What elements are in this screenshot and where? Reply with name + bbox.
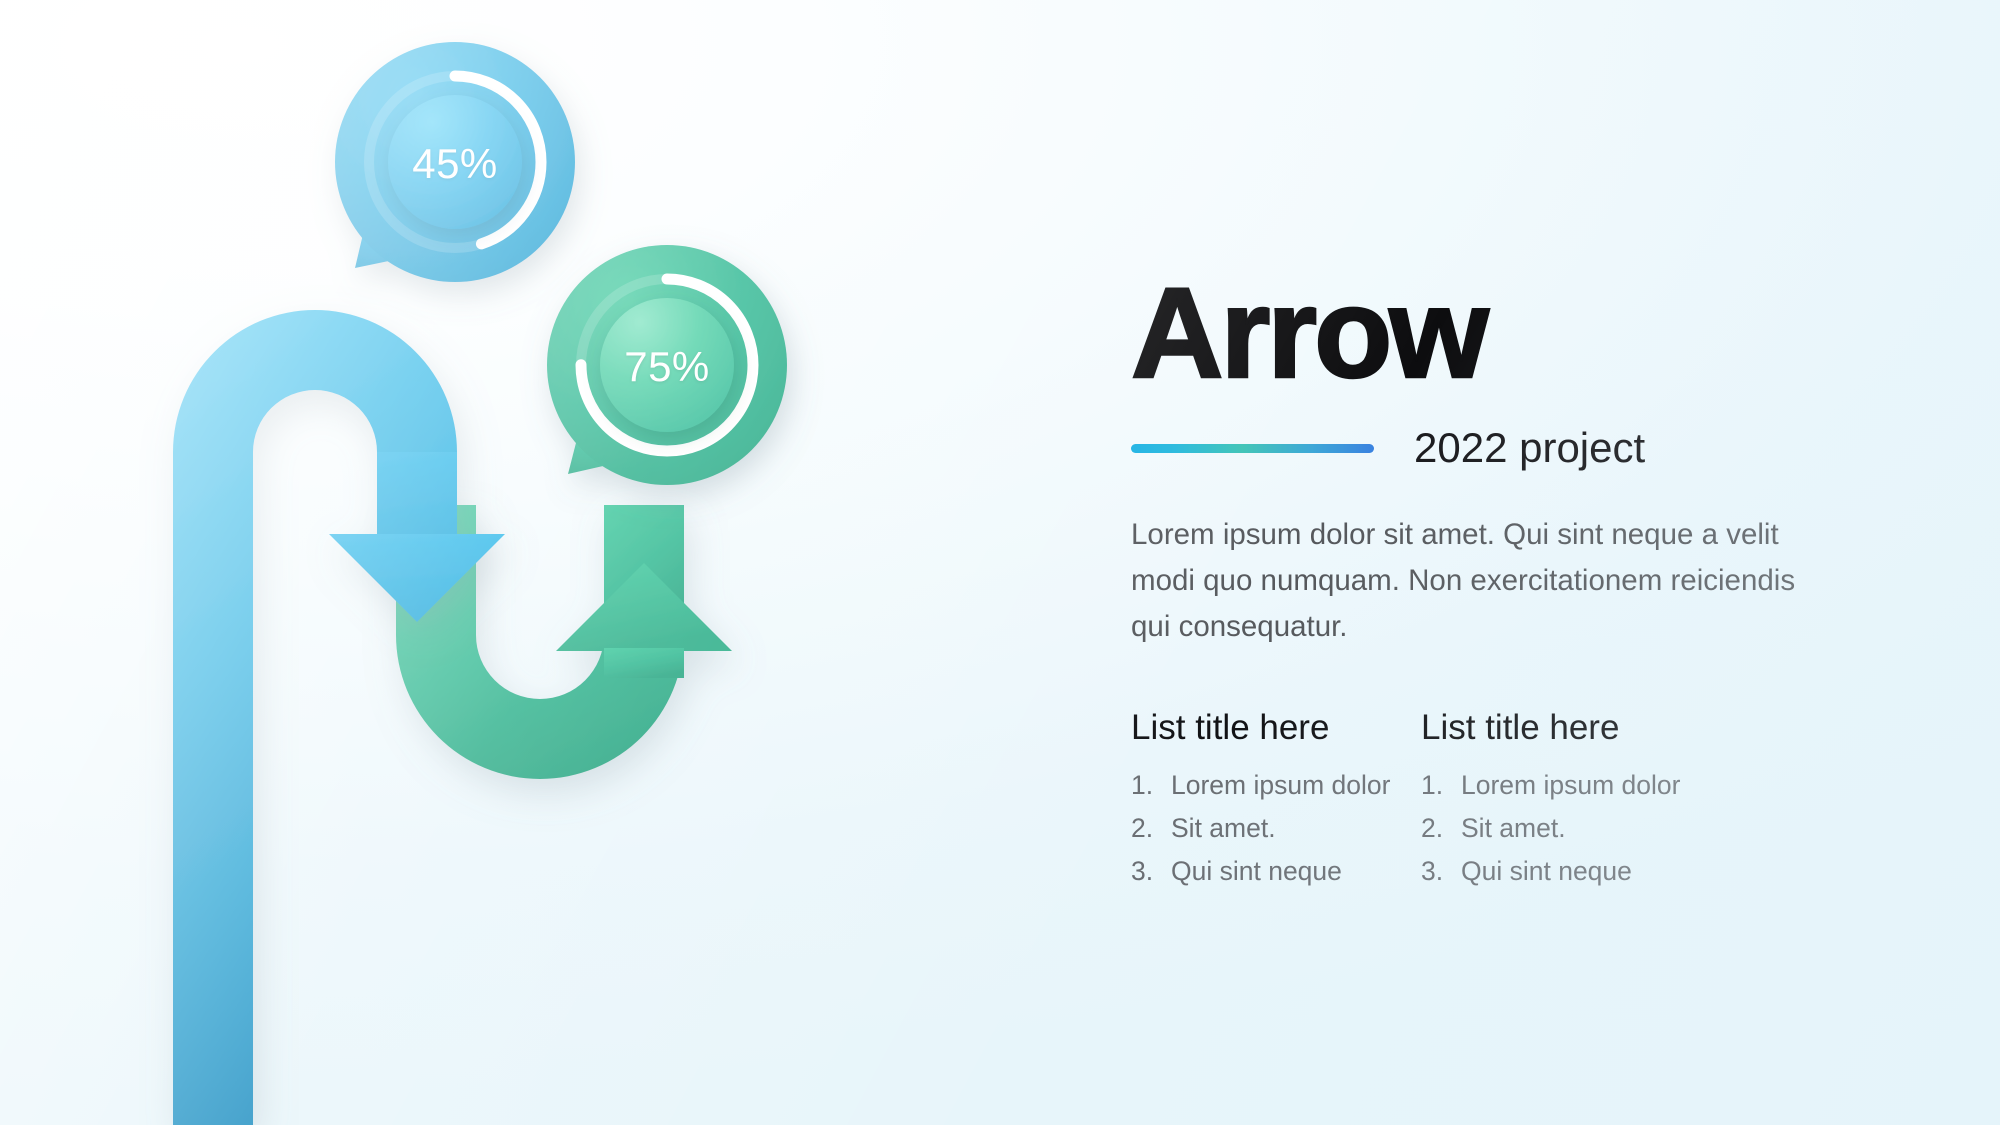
list-items-2: 1. Lorem ipsum dolor 2. Sit amet. 3. Qui… <box>1421 764 1711 893</box>
lists-container: List title here 1. Lorem ipsum dolor 2. … <box>1131 708 1871 893</box>
list-item-label: Sit amet. <box>1461 807 1566 850</box>
list-item-label: Lorem ipsum dolor <box>1461 764 1680 807</box>
list-column-2: List title here 1. Lorem ipsum dolor 2. … <box>1421 708 1711 893</box>
list-item: 3. Qui sint neque <box>1131 850 1421 893</box>
list-item: 2. Sit amet. <box>1421 807 1711 850</box>
list-item-label: Qui sint neque <box>1171 850 1342 893</box>
list-item-number: 2. <box>1421 807 1461 850</box>
list-item-number: 2. <box>1131 807 1171 850</box>
content-panel: Arrow 2022 project Lorem ipsum dolor sit… <box>1131 270 1871 893</box>
list-item-number: 1. <box>1131 764 1171 807</box>
list-item-label: Sit amet. <box>1171 807 1276 850</box>
list-item-label: Lorem ipsum dolor <box>1171 764 1390 807</box>
list-item-number: 3. <box>1131 850 1171 893</box>
subtitle-row: 2022 project <box>1131 426 1871 470</box>
body-paragraph: Lorem ipsum dolor sit amet. Qui sint neq… <box>1131 512 1821 650</box>
list-item-number: 3. <box>1421 850 1461 893</box>
list-item: 2. Sit amet. <box>1131 807 1421 850</box>
list-items-1: 1. Lorem ipsum dolor 2. Sit amet. 3. Qui… <box>1131 764 1421 893</box>
infographic-slide: 45% 75% Arrow 2022 project Lorem ipsum d… <box>0 0 2000 1125</box>
list-item: 1. Lorem ipsum dolor <box>1421 764 1711 807</box>
page-subtitle: 2022 project <box>1414 424 1645 472</box>
page-title: Arrow <box>1131 270 1871 398</box>
list-column-1: List title here 1. Lorem ipsum dolor 2. … <box>1131 708 1421 893</box>
list-item-number: 1. <box>1421 764 1461 807</box>
list-item: 3. Qui sint neque <box>1421 850 1711 893</box>
list-title-2: List title here <box>1421 708 1711 748</box>
green-gauge-value: 75% <box>624 343 710 391</box>
list-item-label: Qui sint neque <box>1461 850 1632 893</box>
gradient-divider <box>1131 444 1374 453</box>
list-item: 1. Lorem ipsum dolor <box>1131 764 1421 807</box>
list-title-1: List title here <box>1131 708 1421 748</box>
blue-gauge-value: 45% <box>412 140 498 188</box>
